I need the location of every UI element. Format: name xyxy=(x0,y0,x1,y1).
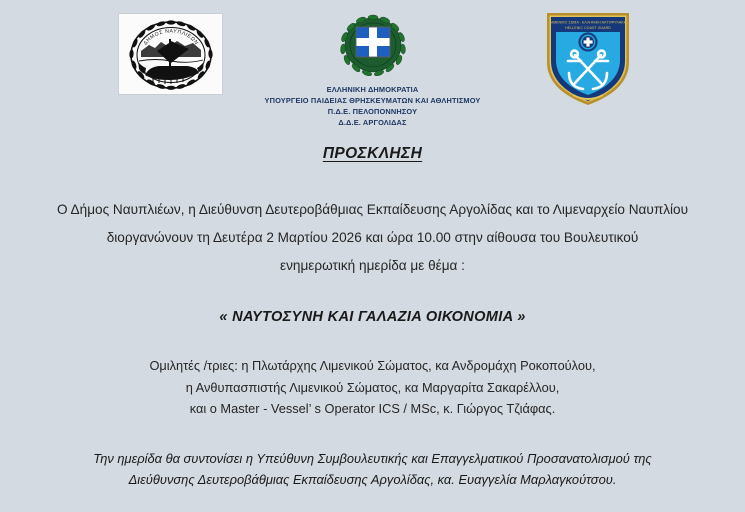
cg-band-latin-text: HELLENIC COAST GUARD xyxy=(565,26,611,30)
speaker-line-3: και ο Master - Vessel’ s Operator ICS / … xyxy=(0,398,745,420)
gov-line-2: ΥΠΟΥΡΓΕΙΟ ΠΑΙΔΕΙΑΣ ΘΡΗΣΚΕΥΜΑΤΩΝ ΚΑΙ ΑΘΛΗ… xyxy=(0,95,745,106)
intro-line-2: διοργανώνουν τη Δευτέρα 2 Μαρτίου 2026 κ… xyxy=(0,224,745,252)
intro-line-1: Ο Δήμος Ναυπλιέων, η Διεύθυνση Δευτεροβά… xyxy=(0,196,745,224)
closing-line-2: Διεύθυνσης Δευτεροβάθμιας Εκπαίδευσης Αρ… xyxy=(0,469,745,490)
invitation-document: ΔΗΜΟΣ ΝΑΥΠΛΙΕΩΝ xyxy=(0,0,745,512)
speaker-line-2: η Ανθυπασπιστής Λιμενικού Σώματος, κα Μα… xyxy=(0,377,745,399)
government-block: ΕΛΛΗΝΙΚΗ ΔΗΜΟΚΡΑΤΙΑ ΥΠΟΥΡΓΕΙΟ ΠΑΙΔΕΙΑΣ Θ… xyxy=(0,14,745,128)
gov-line-3: Π.Δ.Ε. ΠΕΛΟΠΟΝΝΗΣΟΥ xyxy=(0,106,745,117)
gov-line-1: ΕΛΛΗΝΙΚΗ ΔΗΜΟΚΡΑΤΙΑ xyxy=(0,84,745,95)
intro-line-3: ενημερωτική ημερίδα με θέμα : xyxy=(0,252,745,280)
hellenic-republic-coat-of-arms-icon xyxy=(339,14,407,76)
intro-paragraph: Ο Δήμος Ναυπλιέων, η Διεύθυνση Δευτεροβά… xyxy=(0,196,745,280)
gov-line-4: Δ.Δ.Ε. ΑΡΓΟΛΙΔΑΣ xyxy=(0,117,745,128)
speaker-line-1: Ομιλητές /τριες: η Πλωτάρχης Λιμενικού Σ… xyxy=(0,355,745,377)
cg-band-greek-text: ΛΙΜΕΝΙΚΟ ΣΩΜΑ - ΕΛΛΗΝΙΚΗ ΑΚΤΟΦΥΛΑΚΗ xyxy=(550,21,627,25)
speakers-list: Ομιλητές /τριες: η Πλωτάρχης Λιμενικού Σ… xyxy=(0,355,745,420)
hellenic-coast-guard-badge-icon: ΛΙΜΕΝΙΚΟ ΣΩΜΑ - ΕΛΛΗΝΙΚΗ ΑΚΤΟΦΥΛΑΚΗ HELL… xyxy=(543,9,633,107)
government-text-lines: ΕΛΛΗΝΙΚΗ ΔΗΜΟΚΡΑΤΙΑ ΥΠΟΥΡΓΕΙΟ ΠΑΙΔΕΙΑΣ Θ… xyxy=(0,84,745,128)
header-emblems: ΔΗΜΟΣ ΝΑΥΠΛΙΕΩΝ xyxy=(0,0,745,128)
event-topic: « ΝΑΥΤΟΣΥΝΗ ΚΑΙ ΓΑΛΑΖΙΑ ΟΙΚΟΝΟΜΙΑ » xyxy=(0,309,745,325)
closing-note: Την ημερίδα θα συντονίσει η Υπεύθυνη Συμ… xyxy=(0,448,745,490)
document-title: ΠΡΟΣΚΛΗΣΗ xyxy=(0,145,745,163)
closing-line-1: Την ημερίδα θα συντονίσει η Υπεύθυνη Συμ… xyxy=(0,448,745,469)
